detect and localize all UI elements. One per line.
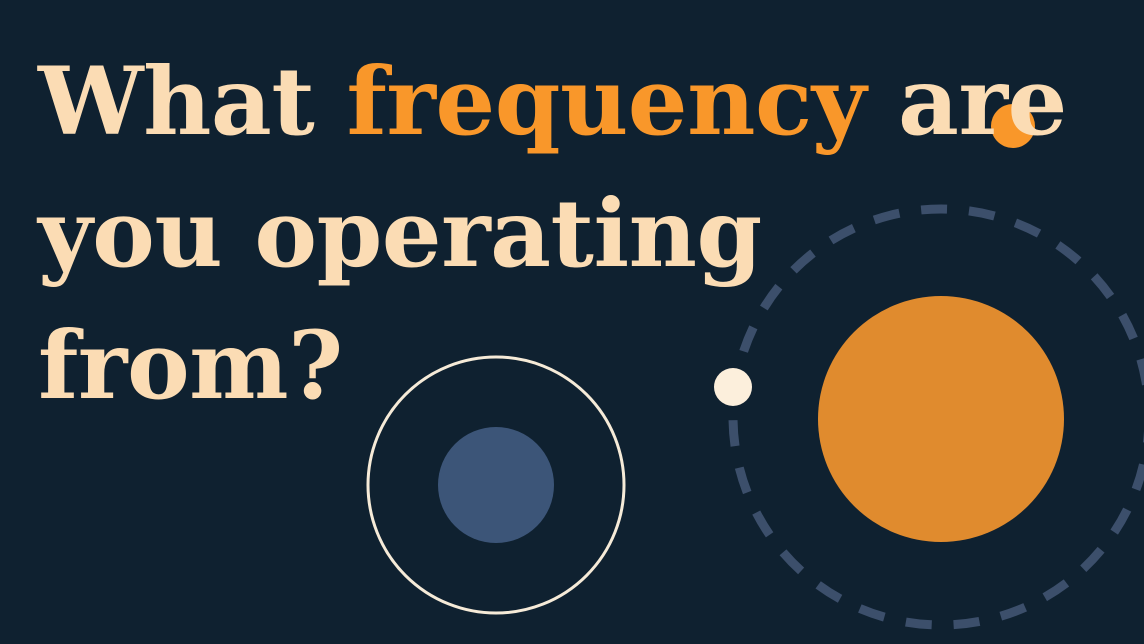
headline-accent-word: frequency — [346, 47, 865, 157]
headline-line-2: you operating — [38, 168, 938, 300]
page-title: What frequency are you operating from? — [38, 36, 938, 432]
headline-line-3: from? — [38, 300, 938, 432]
slide-canvas: What frequency are you operating from? — [0, 0, 1144, 644]
headline-text-after: are — [866, 47, 1067, 157]
headline-line-1: What frequency are — [38, 36, 938, 168]
headline-text-before: What — [38, 47, 346, 157]
planet-core — [438, 427, 554, 543]
